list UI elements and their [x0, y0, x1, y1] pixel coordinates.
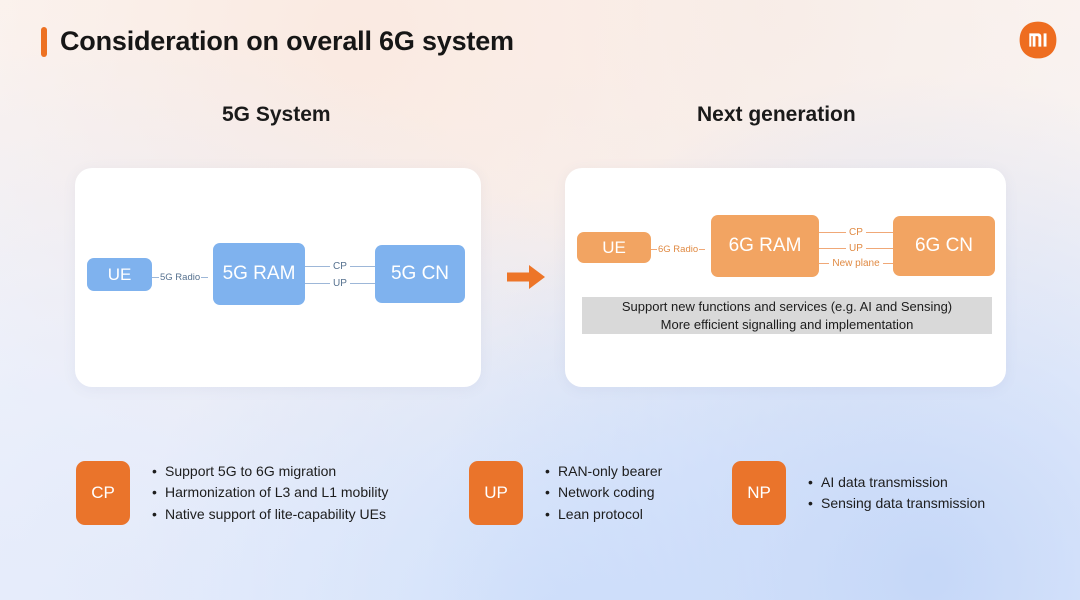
- connector-cp-6g: CP: [819, 227, 893, 239]
- connector-line: [866, 248, 893, 249]
- node-ue-6g: UE: [577, 232, 651, 263]
- connector-new-plane-6g: New plane: [819, 258, 893, 270]
- connector-label: 5G Radio: [159, 273, 201, 283]
- connector-line: [819, 263, 829, 264]
- legend-badge-np: NP: [732, 461, 786, 525]
- connector-line: [819, 232, 846, 233]
- list-item: •Sensing data transmission: [808, 493, 985, 514]
- section-title-next: Next generation: [697, 103, 856, 127]
- list-item: •Support 5G to 6G migration: [152, 461, 388, 482]
- list-item: •Network coding: [545, 482, 662, 503]
- list-item: •Lean protocol: [545, 504, 662, 525]
- connector-label: CP: [330, 261, 350, 273]
- bullet-icon: •: [152, 504, 165, 525]
- page-title: Consideration on overall 6G system: [60, 26, 514, 57]
- bullet-icon: •: [545, 482, 558, 503]
- title-accent-bar: [41, 27, 47, 57]
- connector-label: New plane: [829, 258, 882, 270]
- legend-group-cp: CP •Support 5G to 6G migration •Harmoniz…: [76, 461, 388, 525]
- connector-group-5g-links: CP UP: [305, 261, 375, 289]
- bullet-icon: •: [545, 461, 558, 482]
- connector-line: [350, 283, 375, 284]
- page-header: Consideration on overall 6G system: [41, 26, 514, 57]
- connector-line: [201, 277, 208, 278]
- bullet-icon: •: [152, 482, 165, 503]
- connector-line: [305, 283, 330, 284]
- diagram-card-next: [565, 168, 1006, 387]
- xiaomi-mi-logo-icon: [1018, 20, 1058, 60]
- legend-item-text: Native support of lite-capability UEs: [165, 504, 386, 525]
- list-item: •Native support of lite-capability UEs: [152, 504, 388, 525]
- bullet-icon: •: [545, 504, 558, 525]
- legend-item-text: RAN-only bearer: [558, 461, 662, 482]
- bullet-icon: •: [808, 493, 821, 514]
- list-item: •Harmonization of L3 and L1 mobility: [152, 482, 388, 503]
- legend-item-text: Network coding: [558, 482, 655, 503]
- node-6g-cn: 6G CN: [893, 216, 995, 276]
- list-item: •RAN-only bearer: [545, 461, 662, 482]
- legend-list-up: •RAN-only bearer •Network coding •Lean p…: [545, 461, 662, 525]
- node-5g-cn: 5G CN: [375, 245, 465, 303]
- connector-line: [350, 266, 375, 267]
- legend-item-text: Harmonization of L3 and L1 mobility: [165, 482, 388, 503]
- legend-group-up: UP •RAN-only bearer •Network coding •Lea…: [469, 461, 662, 525]
- legend-list-cp: •Support 5G to 6G migration •Harmonizati…: [152, 461, 388, 525]
- section-title-5g: 5G System: [222, 103, 331, 127]
- node-6g-ram: 6G RAM: [711, 215, 819, 277]
- right-arrow-icon: [505, 262, 547, 292]
- legend-group-np: NP •AI data transmission •Sensing data t…: [732, 461, 985, 525]
- note-line-1: Support new functions and services (e.g.…: [622, 298, 952, 315]
- legend-list-np: •AI data transmission •Sensing data tran…: [808, 472, 985, 515]
- connector-label: UP: [330, 278, 350, 290]
- connector-label: UP: [846, 243, 866, 255]
- node-ue-5g: UE: [87, 258, 152, 291]
- connector-label: CP: [846, 227, 866, 239]
- legend-item-text: Sensing data transmission: [821, 493, 985, 514]
- connector-line: [883, 263, 893, 264]
- connector-line: [699, 249, 705, 250]
- connector-line: [866, 232, 893, 233]
- legend-badge-up: UP: [469, 461, 523, 525]
- legend-item-text: AI data transmission: [821, 472, 948, 493]
- bullet-icon: •: [808, 472, 821, 493]
- connector-line: [305, 266, 330, 267]
- list-item: •AI data transmission: [808, 472, 985, 493]
- connector-line: [819, 248, 846, 249]
- connector-up-5g: UP: [305, 278, 375, 290]
- connector-line: [152, 277, 159, 278]
- connector-cp-5g: CP: [305, 261, 375, 273]
- connector-6g-radio: 6G Radio: [651, 245, 711, 255]
- connector-group-6g-links: CP UP New plane: [819, 227, 893, 270]
- next-gen-note-box: Support new functions and services (e.g.…: [582, 297, 992, 334]
- legend-item-text: Support 5G to 6G migration: [165, 461, 336, 482]
- connector-up-6g: UP: [819, 243, 893, 255]
- legend-badge-cp: CP: [76, 461, 130, 525]
- connector-label: 6G Radio: [657, 245, 699, 255]
- bullet-icon: •: [152, 461, 165, 482]
- note-line-2: More efficient signalling and implementa…: [661, 316, 914, 333]
- node-5g-ram: 5G RAM: [213, 243, 305, 305]
- legend-item-text: Lean protocol: [558, 504, 643, 525]
- connector-5g-radio: 5G Radio: [152, 273, 213, 283]
